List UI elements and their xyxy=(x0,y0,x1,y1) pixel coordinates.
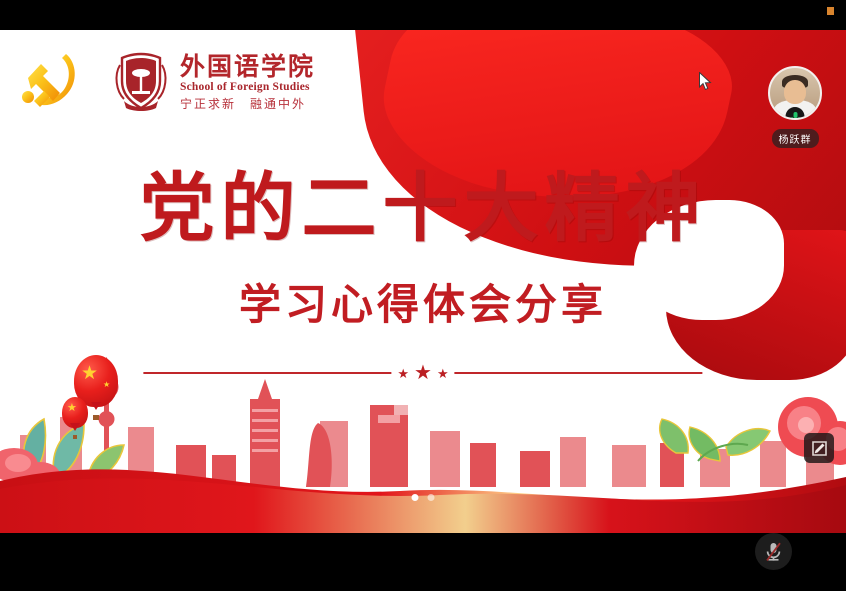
divider-rule-left xyxy=(143,372,391,374)
recording-indicator xyxy=(827,7,834,15)
pencil-square-icon xyxy=(811,440,828,457)
avatar-face xyxy=(784,80,806,104)
balloon-star-icon: ★ xyxy=(81,364,98,383)
avatar[interactable] xyxy=(768,66,822,120)
divider-stars: ★ ★ ★ xyxy=(397,363,448,383)
participant-name-label: 杨跃群 xyxy=(772,129,819,148)
balloon-star-icon-small: ★ xyxy=(103,381,110,389)
annotate-tool-button[interactable] xyxy=(804,433,834,463)
mic-toggle-button[interactable] xyxy=(755,533,792,570)
slide-subtitle: 学习心得体会分享 xyxy=(0,271,846,332)
pagination-dot-2[interactable] xyxy=(428,494,435,501)
letterbox-bottom xyxy=(0,533,846,591)
balloon-envelope: ★ xyxy=(62,397,88,428)
balloon-basket xyxy=(73,435,77,439)
participant-thumbnail[interactable]: 杨跃群 xyxy=(768,66,822,148)
pagination-dot-1[interactable] xyxy=(412,494,419,501)
school-name-en: School of Foreign Studies xyxy=(180,82,315,94)
letterbox-top xyxy=(0,0,846,30)
star-icon-small-right: ★ xyxy=(437,367,449,380)
slide-main-title: 党的二十大精神 xyxy=(0,168,846,249)
microphone-icon xyxy=(790,111,800,121)
star-divider: ★ ★ ★ xyxy=(143,363,702,383)
balloon-basket xyxy=(93,415,99,420)
hot-air-balloon-small: ★ xyxy=(62,397,88,428)
slide-title-block: 党的二十大精神 学习心得体会分享 xyxy=(0,168,846,332)
slide-header: 外国语学院 School of Foreign Studies 宁正求新 融通中… xyxy=(14,44,315,120)
microphone-muted-icon xyxy=(764,541,783,563)
communist-party-emblem xyxy=(14,44,90,120)
balloon-star-icon: ★ xyxy=(67,403,77,414)
school-name-cn: 外国语学院 xyxy=(180,54,315,79)
school-name-block: 外国语学院 School of Foreign Studies 宁正求新 融通中… xyxy=(180,54,315,111)
presentation-slide: 外国语学院 School of Foreign Studies 宁正求新 融通中… xyxy=(0,30,846,533)
screen-share-viewport: 外国语学院 School of Foreign Studies 宁正求新 融通中… xyxy=(0,0,846,591)
school-crest xyxy=(112,51,170,113)
star-icon-small-left: ★ xyxy=(397,367,409,380)
participant-mic-indicator xyxy=(786,107,805,120)
school-motto: 宁正求新 融通中外 xyxy=(180,98,315,110)
slide-pagination-dots[interactable] xyxy=(412,494,435,501)
school-logo: 外国语学院 School of Foreign Studies 宁正求新 融通中… xyxy=(112,51,315,113)
star-icon-large: ★ xyxy=(414,363,432,383)
divider-rule-right xyxy=(455,372,703,374)
